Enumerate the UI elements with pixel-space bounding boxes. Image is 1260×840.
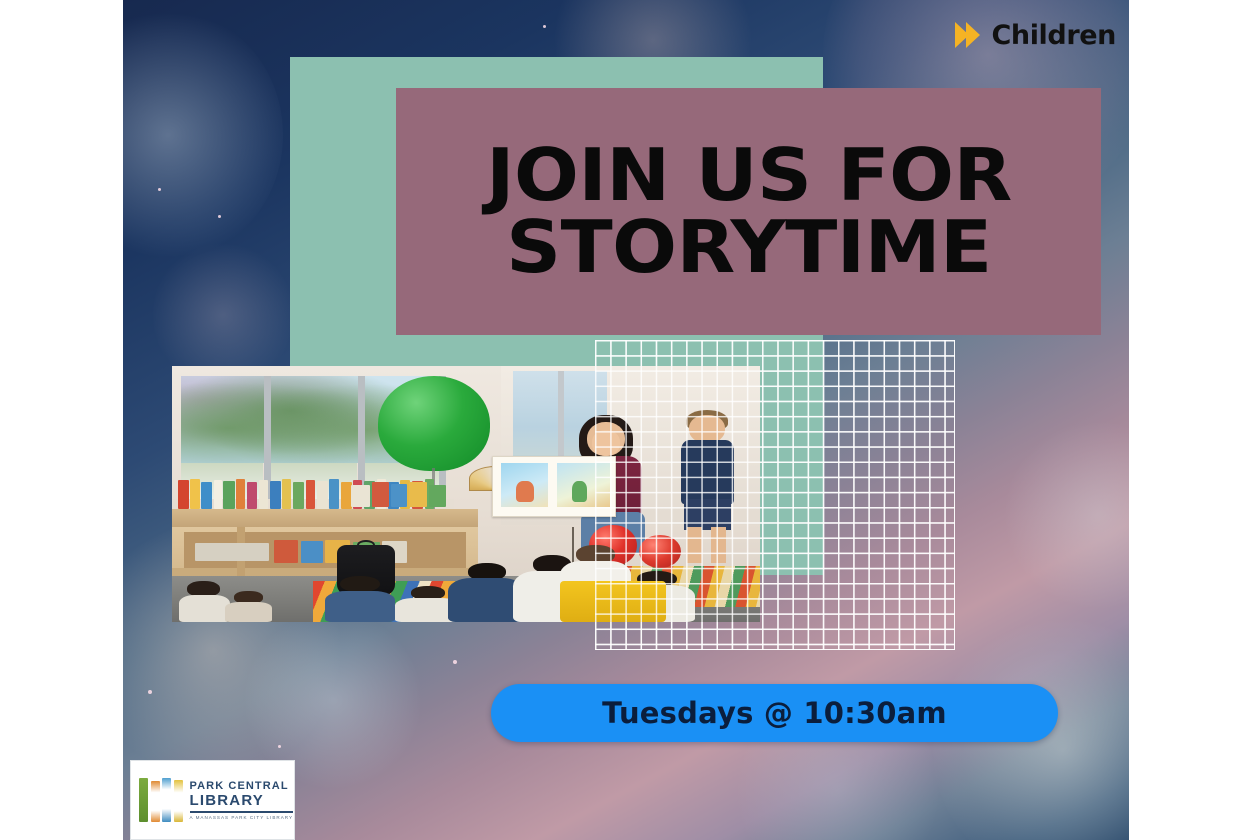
poster-artboard: JOIN US FOR STORYTIME — [123, 0, 1129, 840]
sparkle-dot — [218, 215, 221, 218]
picture-book-figure — [516, 481, 534, 501]
logo-book-spine — [139, 778, 148, 822]
page-title: JOIN US FOR STORYTIME — [486, 140, 1012, 283]
category-tag-label: Children — [991, 20, 1116, 51]
logo-name-line-1: PARK CENTRAL — [190, 780, 294, 793]
seated-child — [325, 576, 396, 622]
double-chevron-right-icon — [953, 18, 987, 52]
sparkle-dot — [278, 745, 281, 748]
seated-child — [178, 581, 231, 622]
logo-tagline: A MANASSAS PARK CITY LIBRARY — [190, 815, 294, 820]
sparkle-dot — [543, 25, 546, 28]
headline-panel: JOIN US FOR STORYTIME — [396, 88, 1101, 335]
logo-books-icon — [139, 778, 183, 822]
sparkle-dot — [453, 660, 457, 664]
sparkle-dot — [158, 188, 161, 191]
librarian-face — [592, 430, 620, 456]
logo-name-line-2: LIBRARY — [190, 793, 294, 810]
schedule-pill: Tuesdays @ 10:30am — [491, 684, 1058, 742]
photo-bookshelf-top — [172, 509, 478, 527]
bokeh-glow — [1003, 420, 1129, 610]
category-tag: Children — [953, 18, 1116, 52]
photo-books-row — [190, 538, 437, 566]
logo-wordmark: PARK CENTRAL LIBRARY A MANASSAS PARK CIT… — [190, 780, 294, 820]
standing-child-leg — [687, 527, 702, 563]
photo-sill-items — [348, 479, 454, 510]
picture-book-figure — [572, 481, 587, 501]
logo-book-spine — [151, 781, 160, 822]
schedule-label: Tuesdays @ 10:30am — [602, 696, 947, 730]
photo-bookshelf-divider — [172, 568, 478, 576]
standing-child-head — [689, 415, 724, 443]
yellow-seat — [560, 581, 666, 622]
seated-child — [225, 591, 272, 622]
logo-book-spine — [162, 778, 171, 822]
logo-book-spine — [174, 780, 183, 822]
sparkle-dot — [148, 690, 152, 694]
storytime-photo — [172, 366, 760, 622]
logo-divider — [190, 811, 294, 813]
standing-child-torso — [681, 440, 734, 504]
standing-child-shorts — [684, 499, 731, 530]
green-balloon — [378, 376, 490, 471]
headline-line-2: STORYTIME — [486, 212, 1012, 283]
poster-page: JOIN US FOR STORYTIME — [0, 0, 1260, 840]
red-balloon — [639, 535, 680, 568]
photo-backpack-handle — [357, 540, 375, 550]
headline-line-1: JOIN US FOR — [486, 140, 1012, 211]
standing-child-leg — [711, 527, 726, 563]
bokeh-glow — [123, 10, 283, 260]
library-logo: PARK CENTRAL LIBRARY A MANASSAS PARK CIT… — [130, 760, 295, 840]
